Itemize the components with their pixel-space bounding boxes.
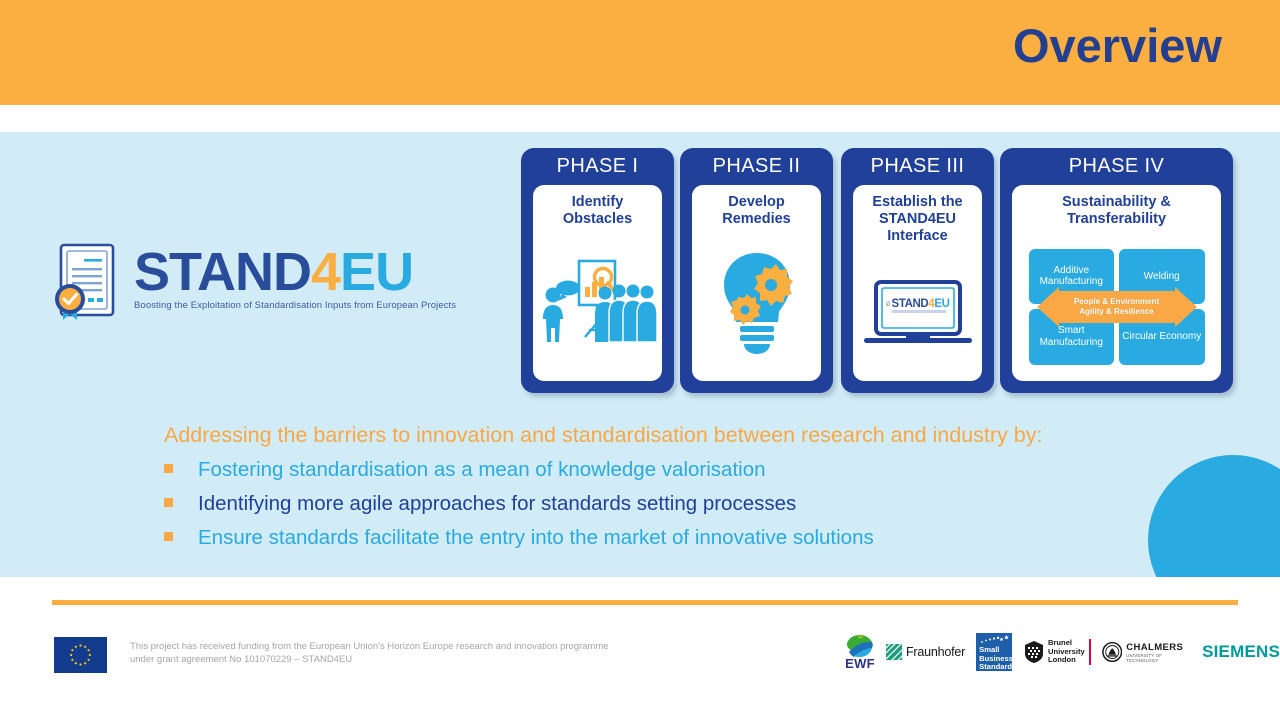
chalmers-main-text: CHALMERS xyxy=(1126,642,1191,653)
ewf-wordmark: EWF xyxy=(845,656,875,671)
phase-label-4: PHASE IV xyxy=(1069,155,1164,178)
arrow-label-line1: People & Environment xyxy=(1074,297,1159,306)
bullet-text-2: Identifying more agile approaches for st… xyxy=(198,489,796,519)
phase-heading-4: Sustainability & Transferability xyxy=(1062,194,1171,228)
mini-certificate-icon xyxy=(886,296,890,312)
arrow-label-line2: Agility & Resilience xyxy=(1079,307,1153,316)
phase-heading-3-line2: STAND4EU xyxy=(879,211,956,227)
laptop-logo-eu: EU xyxy=(934,298,949,310)
eu-flag-icon xyxy=(54,637,107,673)
list-item: Identifying more agile approaches for st… xyxy=(164,489,874,523)
phase-heading-2: Develop Remedies xyxy=(722,194,791,228)
fraunhofer-mark-icon xyxy=(886,644,902,660)
fraunhofer-wordmark: Fraunhofer xyxy=(906,645,965,659)
laptop-icon: STAND4EU xyxy=(862,280,974,346)
slide-root: Overview STAND4EU xyxy=(0,0,1280,720)
phase-card-4[interactable]: PHASE IV Sustainability & Transferabilit… xyxy=(1000,148,1233,393)
double-arrow-banner: People & Environment Agility & Resilienc… xyxy=(1037,287,1197,327)
logo-text-four: 4 xyxy=(311,242,340,302)
brunel-crest-icon xyxy=(1023,640,1045,664)
phase-label-2: PHASE II xyxy=(713,155,801,178)
phase-art-4: Additive Manufacturing Welding Smart Man… xyxy=(1012,228,1221,381)
capability-grid: Additive Manufacturing Welding Smart Man… xyxy=(1029,249,1205,365)
partner-logos: EWF Fraunhofer xyxy=(845,628,1280,676)
funding-line-1: This project has received funding from t… xyxy=(130,641,609,652)
phase-inner-4: Sustainability & Transferability Additiv… xyxy=(1012,185,1221,381)
audience-presentation-icon xyxy=(537,255,659,354)
sbs-line3: Standards xyxy=(979,663,1010,671)
lightbulb-gears-icon xyxy=(709,249,805,360)
bullet-text-1: Fostering standardisation as a mean of k… xyxy=(198,455,766,485)
phase-heading-4-line1: Sustainability & xyxy=(1062,194,1171,210)
list-item: Fostering standardisation as a mean of k… xyxy=(164,455,874,489)
logo-text-stand: STAND xyxy=(134,242,311,302)
chalmers-wordmark: CHALMERS UNIVERSITY OF TECHNOLOGY xyxy=(1126,642,1191,663)
lead-sentence: Addressing the barriers to innovation an… xyxy=(164,423,1042,448)
phase-heading-1-line1: Identify xyxy=(572,194,624,210)
partner-logo-fraunhofer: Fraunhofer xyxy=(886,644,965,660)
partner-logo-small-business-standards: Small Business Standards xyxy=(976,633,1012,671)
phase-label-3: PHASE III xyxy=(871,155,965,178)
page-title: Overview xyxy=(1013,18,1222,73)
brunel-wordmark: Brunel University London xyxy=(1048,639,1091,664)
phase-card-2[interactable]: PHASE II Develop Remedies xyxy=(680,148,833,393)
partner-logo-brunel: Brunel University London xyxy=(1023,639,1091,664)
bullet-marker-icon xyxy=(164,532,173,541)
stand4eu-logo: STAND4EU Boosting the Exploitation of St… xyxy=(50,240,500,340)
phase-inner-1: Identify Obstacles xyxy=(533,185,662,381)
phase-card-3[interactable]: PHASE III Establish the STAND4EU Interfa… xyxy=(841,148,994,393)
phase-card-1[interactable]: PHASE I Identify Obstacles xyxy=(521,148,674,393)
logo-tagline: Boosting the Exploitation of Standardisa… xyxy=(134,300,456,311)
brunel-line3: London xyxy=(1048,656,1085,664)
chalmers-seal-icon xyxy=(1102,641,1122,663)
phase-art-3: STAND4EU xyxy=(853,245,982,381)
phase-heading-3-line3: Interface xyxy=(887,228,947,244)
logo-text-eu: EU xyxy=(340,242,413,302)
bullet-marker-icon xyxy=(164,498,173,507)
funding-line-2: under grant agreement No 101070229 – STA… xyxy=(130,654,352,665)
phase-heading-2-line1: Develop xyxy=(728,194,784,210)
certificate-badge-icon xyxy=(50,242,124,322)
bullet-text-3: Ensure standards facilitate the entry in… xyxy=(198,523,874,553)
partner-logo-siemens: SIEMENS xyxy=(1202,642,1280,662)
chalmers-sub-text: UNIVERSITY OF TECHNOLOGY xyxy=(1126,653,1191,663)
list-item: Ensure standards facilitate the entry in… xyxy=(164,523,874,557)
bullet-list: Fostering standardisation as a mean of k… xyxy=(164,455,874,557)
sbs-stars-icon xyxy=(976,634,1012,647)
phase-heading-4-line2: Transferability xyxy=(1067,211,1166,227)
footer-divider xyxy=(52,600,1238,605)
phase-heading-2-line2: Remedies xyxy=(722,211,791,227)
phase-heading-1: Identify Obstacles xyxy=(563,194,632,228)
phase-art-1 xyxy=(533,228,662,381)
phase-inner-2: Develop Remedies xyxy=(692,185,821,381)
laptop-logo-stand: STAND xyxy=(892,298,929,310)
decorative-circle xyxy=(1148,455,1280,577)
bullet-marker-icon xyxy=(164,464,173,473)
arrow-banner-label: People & Environment Agility & Resilienc… xyxy=(1062,297,1172,316)
phase-heading-1-line2: Obstacles xyxy=(563,211,632,227)
phase-inner-3: Establish the STAND4EU Interface xyxy=(853,185,982,381)
partner-logo-chalmers: CHALMERS UNIVERSITY OF TECHNOLOGY xyxy=(1102,641,1191,663)
laptop-logo-tagline-bar xyxy=(892,310,946,313)
phase-heading-3-line1: Establish the xyxy=(872,194,962,210)
phase-label-1: PHASE I xyxy=(557,155,639,178)
phase-heading-3: Establish the STAND4EU Interface xyxy=(872,194,962,245)
funding-statement: This project has received funding from t… xyxy=(130,641,670,666)
partner-logo-ewf: EWF xyxy=(845,633,875,671)
phase-art-2 xyxy=(692,228,821,381)
